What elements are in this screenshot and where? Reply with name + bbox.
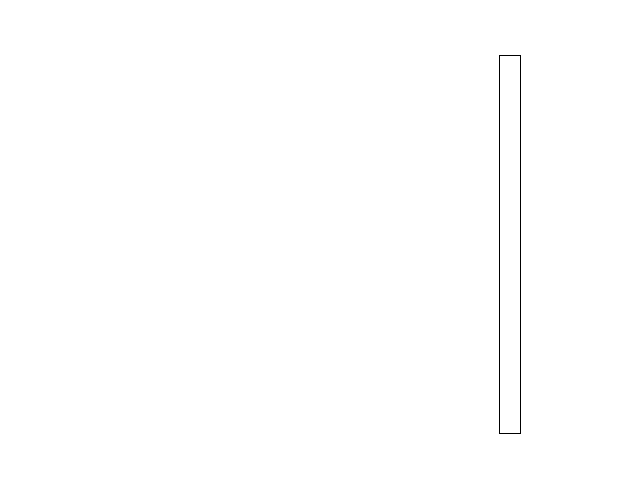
polar-plot[interactable]: [104, 53, 478, 427]
polar-contour-svg: [104, 53, 478, 427]
figure-canvas: [0, 0, 640, 480]
colorbar[interactable]: [499, 55, 521, 434]
